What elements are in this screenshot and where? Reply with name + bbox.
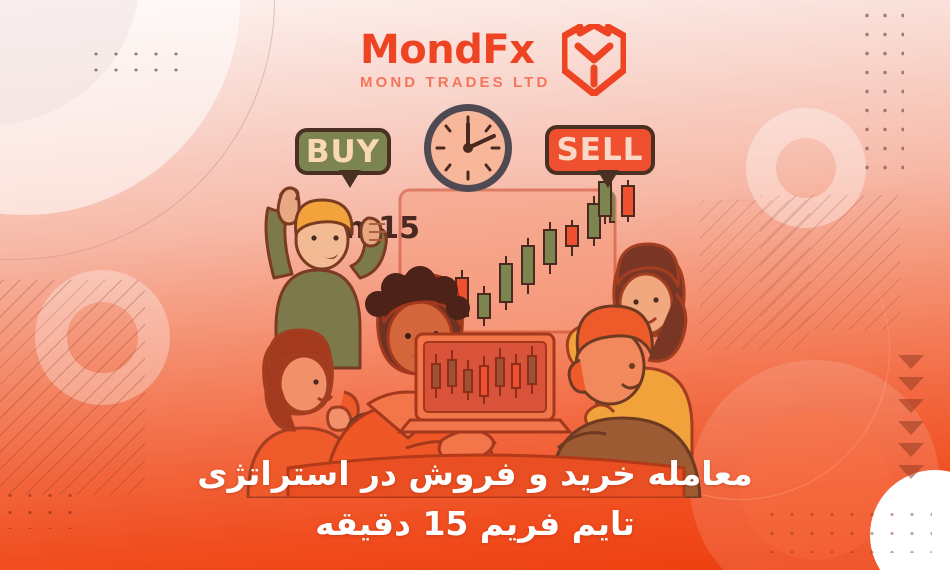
brand-name: MondFx xyxy=(360,30,550,70)
sell-bubble[interactable]: SELL xyxy=(545,125,655,175)
background-circle-top-left xyxy=(0,0,240,215)
promo-banner: MondFx MOND TRADES LTD 15-min xyxy=(0,0,950,570)
mondfx-shield-chevron-logo-icon xyxy=(562,24,626,96)
wall-clock-icon xyxy=(424,104,512,192)
dot-grid-top-right xyxy=(858,6,904,176)
brand-tagline: MOND TRADES LTD xyxy=(360,75,550,90)
dot-grid-top-left xyxy=(86,46,190,84)
buy-bubble-label: BUY xyxy=(306,134,380,170)
background-ring-left xyxy=(35,270,170,405)
brand-logo: MondFx MOND TRADES LTD xyxy=(360,24,626,96)
background-ring-top-right xyxy=(746,108,866,228)
laptop xyxy=(400,334,570,432)
triangle-down-icon xyxy=(898,377,924,391)
diagonal-hatch-right xyxy=(760,195,900,330)
headline: معامله خرید و فروش در استراتژی تایم فریم… xyxy=(0,449,950,548)
headline-line-2: تایم فریم 15 دقیقه xyxy=(150,499,800,549)
triangle-down-icon xyxy=(898,399,924,413)
triangle-down-icon xyxy=(898,355,924,369)
triangle-down-icon xyxy=(898,421,924,435)
sell-bubble-label: SELL xyxy=(556,132,643,168)
headline-line-1: معامله خرید و فروش در استراتژی xyxy=(150,449,800,499)
buy-bubble[interactable]: BUY xyxy=(295,128,391,175)
brand-logo-text: MondFx MOND TRADES LTD xyxy=(360,30,550,90)
background-circle-top-left-inner xyxy=(0,0,140,125)
